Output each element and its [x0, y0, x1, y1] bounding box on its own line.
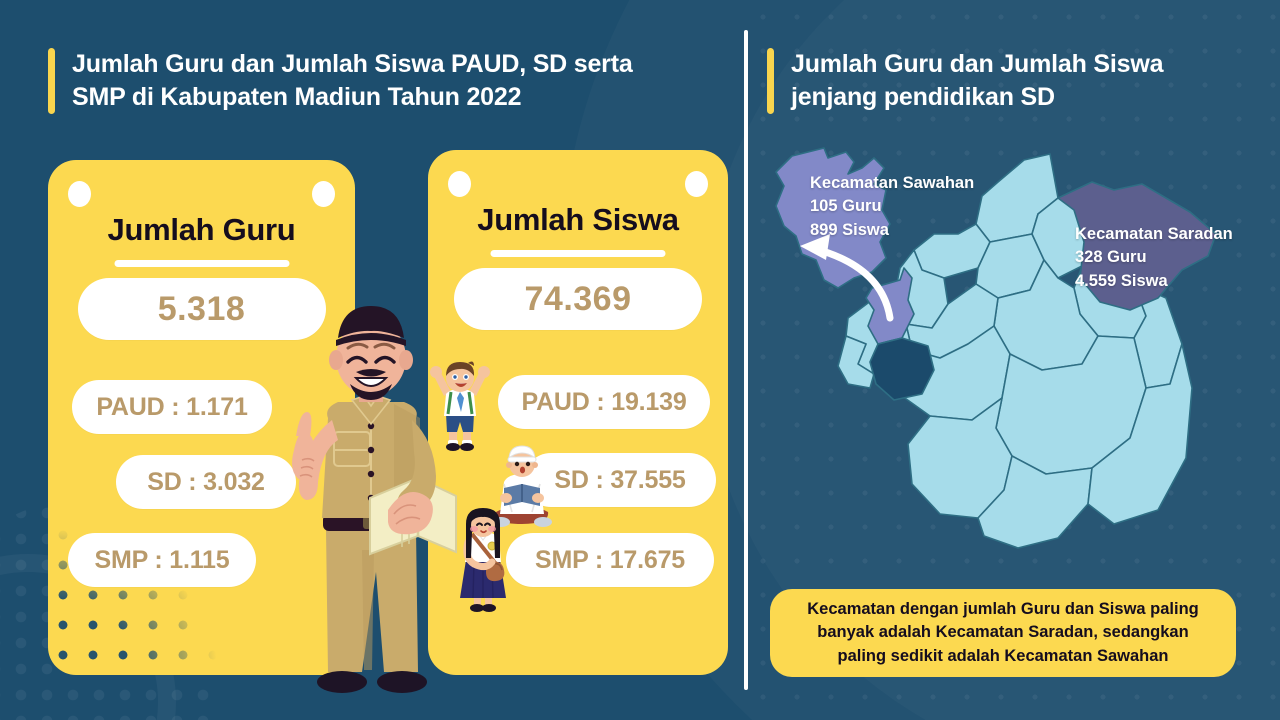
card-guru-heading: Jumlah Guru	[48, 212, 355, 248]
infographic-canvas: Jumlah Guru dan Jumlah Siswa PAUD, SD se…	[0, 0, 1280, 720]
card-siswa-total: 74.369	[454, 268, 702, 330]
card-guru-row-paud: PAUD : 1.171	[72, 380, 272, 434]
map-label-saradan: Kecamatan Saradan 328 Guru 4.559 Siswa	[1075, 223, 1233, 293]
title-accent-bar	[48, 48, 55, 114]
card-siswa-row-sd: SD : 37.555	[524, 453, 716, 507]
card-punch-hole-left	[68, 181, 91, 207]
card-punch-hole-right	[312, 181, 335, 207]
card-heading-underline	[491, 250, 666, 257]
card-siswa-row-paud: PAUD : 19.139	[498, 375, 710, 429]
panel-divider	[744, 30, 748, 690]
card-guru-row-sd: SD : 3.032	[116, 455, 296, 509]
right-title-text: Jumlah Guru dan Jumlah Siswa jenjang pen…	[791, 48, 1163, 115]
map-label-sawahan: Kecamatan Sawahan 105 Guru 899 Siswa	[810, 172, 974, 242]
title-accent-bar	[767, 48, 774, 114]
right-panel-title: Jumlah Guru dan Jumlah Siswa jenjang pen…	[767, 48, 1237, 115]
card-siswa-row-smp: SMP : 17.675	[506, 533, 714, 587]
card-punch-hole-right	[685, 171, 708, 197]
card-guru-row-smp: SMP : 1.115	[68, 533, 256, 587]
left-panel-title: Jumlah Guru dan Jumlah Siswa PAUD, SD se…	[48, 48, 708, 115]
map-region-dark-highlight	[870, 338, 934, 400]
card-heading-underline	[114, 260, 289, 267]
stat-card-siswa: Jumlah Siswa 74.369 PAUD : 19.139 SD : 3…	[428, 150, 728, 675]
left-title-text: Jumlah Guru dan Jumlah Siswa PAUD, SD se…	[72, 48, 633, 115]
stat-card-guru: Jumlah Guru 5.318 PAUD : 1.171 SD : 3.03…	[48, 160, 355, 675]
card-punch-hole-left	[448, 171, 471, 197]
map-caption-box: Kecamatan dengan jumlah Guru dan Siswa p…	[770, 589, 1236, 677]
card-siswa-heading: Jumlah Siswa	[428, 202, 728, 238]
card-guru-total: 5.318	[78, 278, 326, 340]
